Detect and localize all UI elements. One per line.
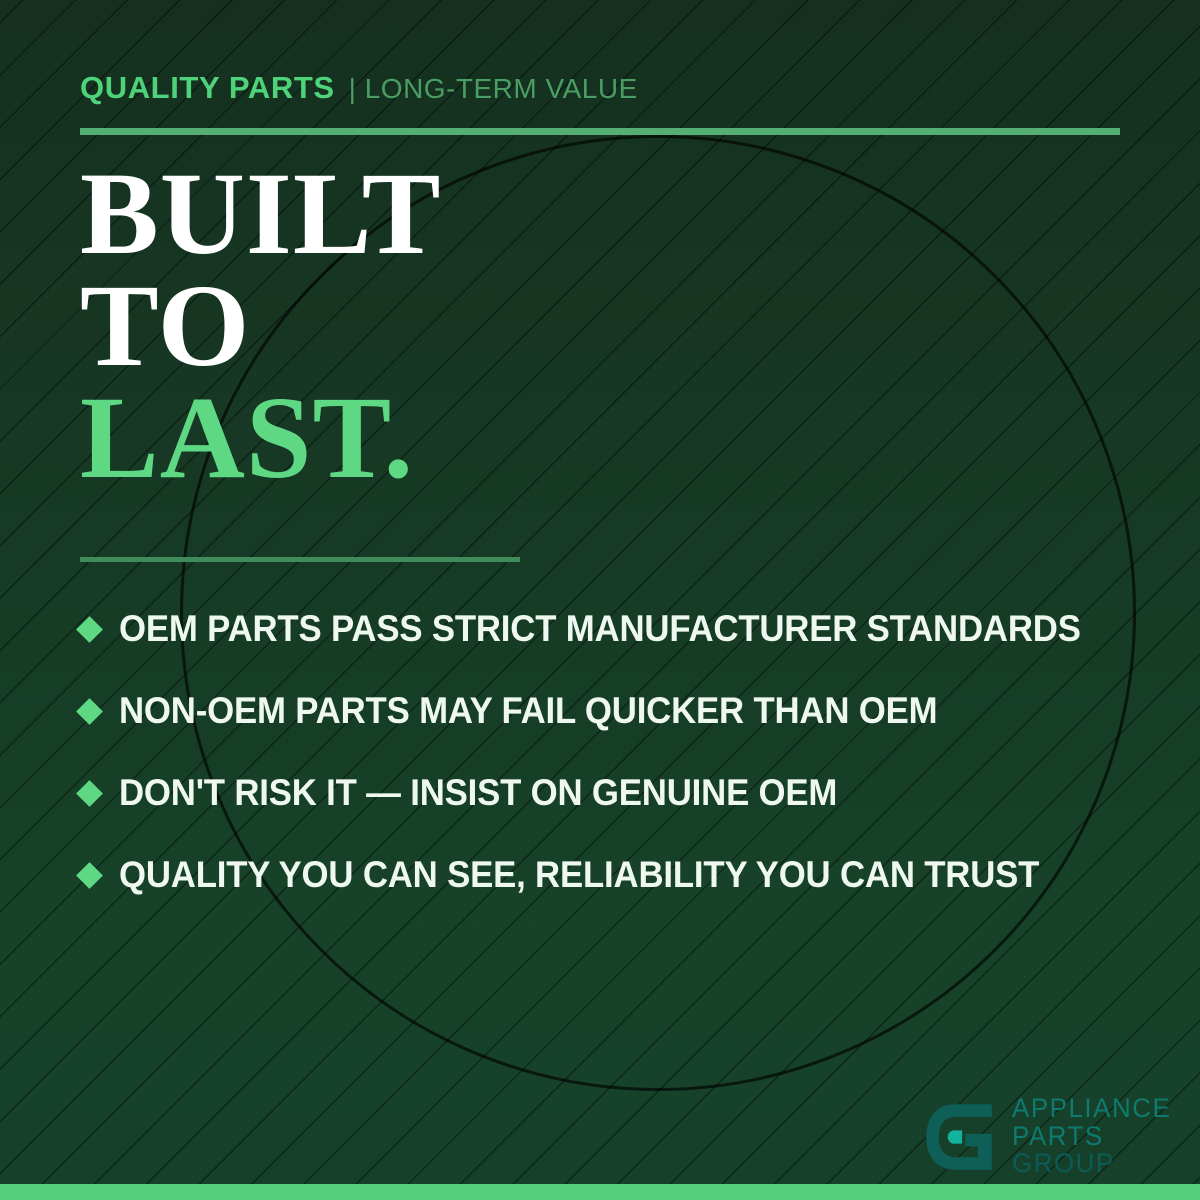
headline-line-3: LAST. — [80, 382, 441, 494]
page-title: BUILT TO LAST. — [80, 158, 441, 494]
list-item-label: QUALITY YOU CAN SEE, RELIABILITY YOU CAN… — [119, 854, 1039, 896]
diamond-bullet-icon — [76, 616, 103, 643]
logo-wordmark: APPLIANCE PARTS GROUP — [1012, 1095, 1178, 1178]
diamond-bullet-icon — [76, 862, 103, 889]
list-item: NON-OEM PARTS MAY FAIL QUICKER THAN OEM — [80, 670, 1155, 752]
logo-g-mark-icon — [920, 1098, 998, 1176]
list-item: QUALITY YOU CAN SEE, RELIABILITY YOU CAN… — [80, 834, 1155, 916]
benefits-list: OEM PARTS PASS STRICT MANUFACTURER STAND… — [80, 588, 1155, 916]
list-item-label: OEM PARTS PASS STRICT MANUFACTURER STAND… — [119, 608, 1081, 650]
eyebrow: QUALITY PARTS | LONG-TERM VALUE — [80, 70, 638, 106]
list-item: DON'T RISK IT — INSIST ON GENUINE OEM — [80, 752, 1155, 834]
diamond-bullet-icon — [76, 698, 103, 725]
list-item-label: NON-OEM PARTS MAY FAIL QUICKER THAN OEM — [119, 690, 937, 732]
headline-divider-rule — [80, 557, 520, 562]
logo-line-3: GROUP — [1012, 1150, 1171, 1178]
logo-line-1: APPLIANCE — [1012, 1095, 1171, 1123]
promo-poster: QUALITY PARTS | LONG-TERM VALUE BUILT TO… — [0, 0, 1200, 1200]
logo-line-2: PARTS — [1012, 1123, 1171, 1151]
header-divider-rule — [80, 128, 1120, 135]
eyebrow-sub-label: | LONG-TERM VALUE — [349, 73, 638, 105]
list-item-label: DON'T RISK IT — INSIST ON GENUINE OEM — [119, 772, 837, 814]
brand-logo: APPLIANCE PARTS GROUP — [920, 1095, 1178, 1178]
bottom-accent-bar — [0, 1184, 1200, 1200]
list-item: OEM PARTS PASS STRICT MANUFACTURER STAND… — [80, 588, 1155, 670]
headline-line-2: TO — [80, 270, 441, 382]
diamond-bullet-icon — [76, 780, 103, 807]
headline-line-1: BUILT — [80, 158, 441, 270]
eyebrow-main-label: QUALITY PARTS — [80, 70, 335, 106]
